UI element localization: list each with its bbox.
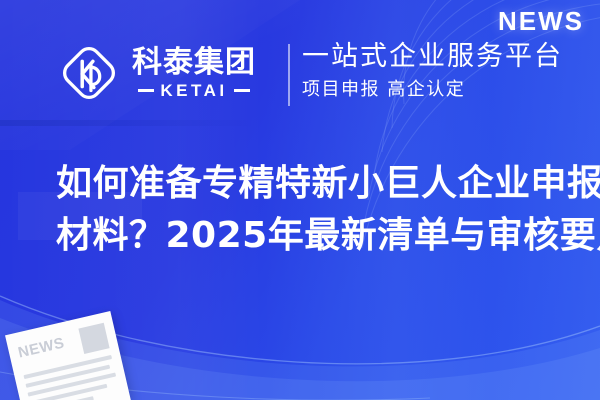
brand-name-cn: 科泰集团	[132, 47, 256, 79]
news-banner: 科泰集团 KETAI 一站式企业服务平台 项目申报 高企认定 NEWS 如何准备…	[0, 0, 600, 400]
brand-logo[interactable]: 科泰集团 KETAI	[58, 42, 256, 104]
ketai-diamond-logo-icon	[58, 42, 120, 104]
article-title-line-2: 材料？2025年最新清单与审核要点	[56, 210, 576, 262]
newspaper-thumbnail	[78, 323, 109, 354]
header-slogan: 一站式企业服务平台 项目申报 高企认定	[302, 40, 563, 101]
dash-right-icon	[234, 89, 250, 92]
brand-name-en-row: KETAI	[132, 82, 256, 99]
slogan-secondary: 项目申报 高企认定	[302, 78, 563, 101]
article-title: 如何准备专精特新小巨人企业申报 材料？2025年最新清单与审核要点	[56, 158, 576, 262]
brand-logo-text: 科泰集团 KETAI	[132, 47, 256, 99]
brand-name-en: KETAI	[160, 82, 227, 99]
banner-header: 科泰集团 KETAI 一站式企业服务平台 项目申报 高企认定 NEWS	[0, 0, 600, 140]
newspaper-masthead: NEWS	[17, 335, 66, 360]
dash-left-icon	[138, 89, 154, 92]
header-divider	[288, 44, 290, 106]
article-title-line-1: 如何准备专精特新小巨人企业申报	[56, 158, 576, 210]
slogan-primary: 一站式企业服务平台	[302, 40, 563, 74]
news-badge: NEWS	[498, 8, 584, 34]
